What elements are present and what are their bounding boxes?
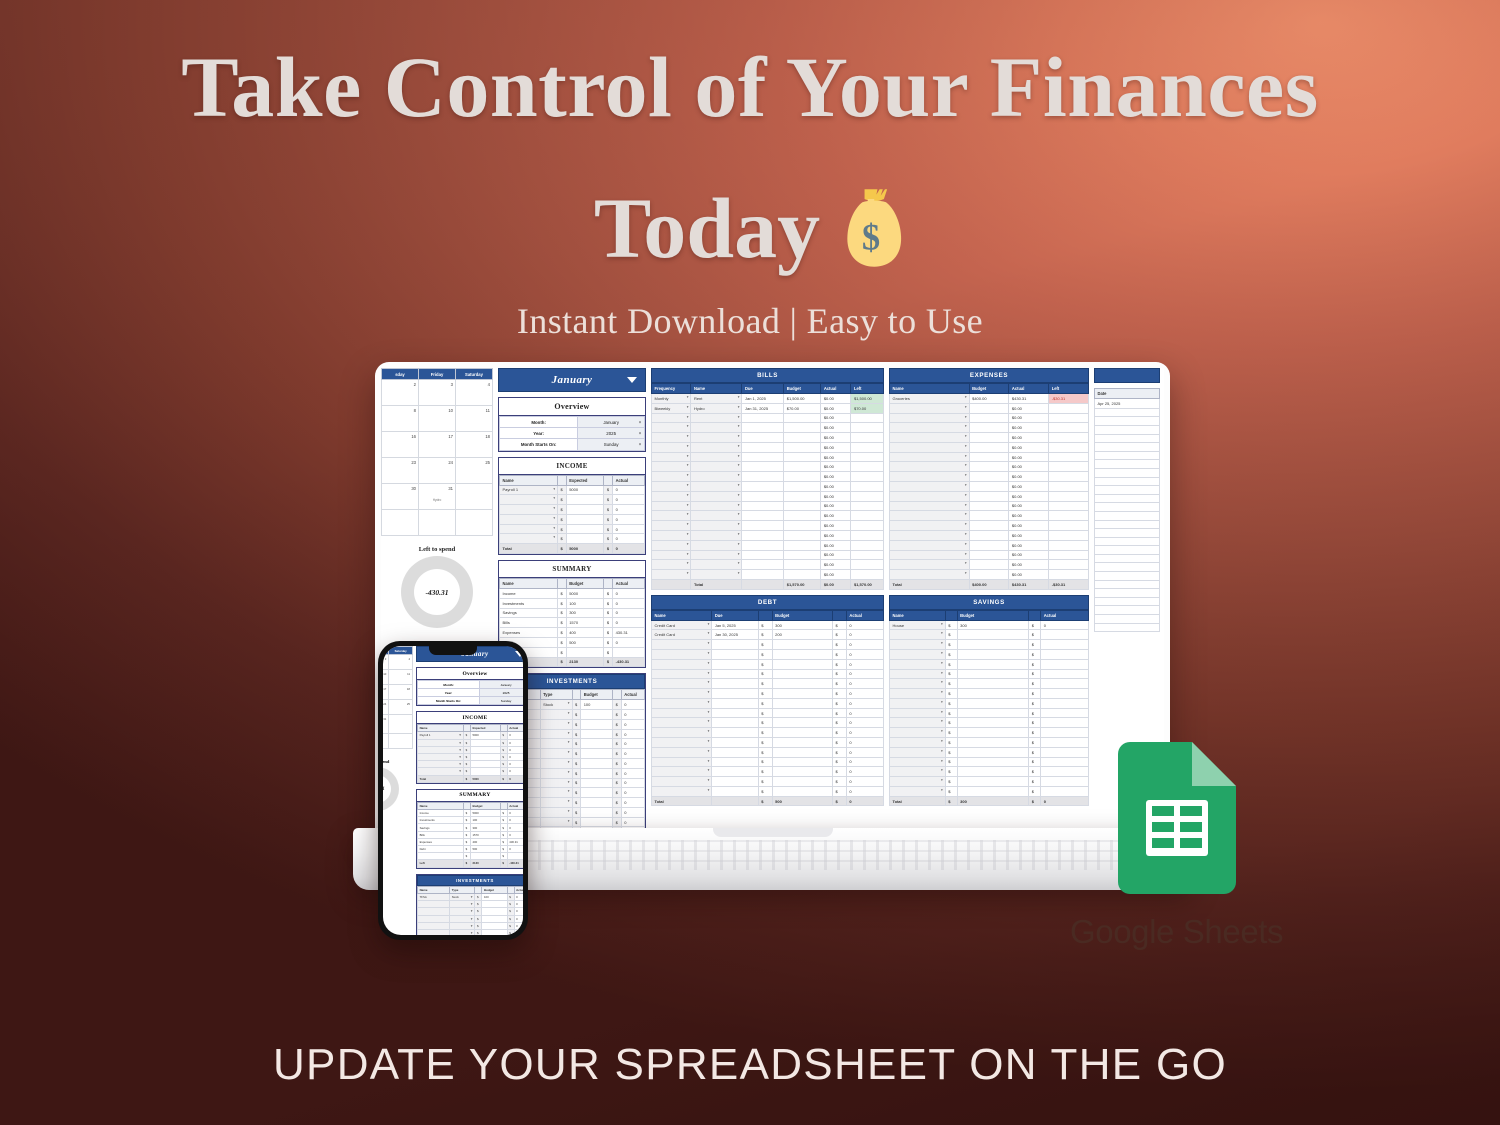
expense-actual: $430.31 <box>1009 394 1049 404</box>
date-value <box>1095 417 1160 426</box>
currency-symbol: $ <box>758 630 772 640</box>
expenses-table[interactable]: NameBudgetActualLeft Groceries$400.00$43… <box>889 383 1089 590</box>
chevron-down-icon[interactable] <box>627 377 637 383</box>
summary-row[interactable]: Expenses$400$430.31 <box>500 628 645 638</box>
savings-row[interactable]: $$ <box>890 747 1089 757</box>
bills-row[interactable]: $0.00 <box>652 540 884 550</box>
bills-row[interactable]: $0.00 <box>652 423 884 433</box>
date-row[interactable] <box>1095 468 1160 477</box>
income-row[interactable]: $$0 <box>418 768 524 775</box>
investments-row[interactable]: $$0 <box>418 901 524 908</box>
phone-calendar-table[interactable]: sdayFridaySaturday 234810111617182324253… <box>383 646 413 749</box>
phone-summary-table[interactable]: NameBudgetActualIncome$5000$0Investments… <box>417 802 523 868</box>
calendar-row[interactable]: 81011 <box>383 670 413 685</box>
expenses-row[interactable]: $0.00 <box>890 570 1089 580</box>
inv-type <box>540 778 572 788</box>
calendar-row[interactable]: 3031Hydro <box>383 715 413 734</box>
income-row[interactable]: Payroll 1$5000$0 <box>500 485 645 495</box>
date-row[interactable] <box>1095 451 1160 460</box>
debt-row[interactable]: $$0 <box>652 708 884 718</box>
savings-row[interactable]: $$ <box>890 718 1089 728</box>
expenses-column: EXPENSES NameBudgetActualLeft Groceries$… <box>889 368 1089 834</box>
inv-budget <box>581 719 613 729</box>
calendar-row[interactable]: 234 <box>382 380 493 406</box>
calendar-cell[interactable]: 30 <box>382 484 419 510</box>
expense-name <box>890 452 970 462</box>
date-row[interactable] <box>1095 615 1160 624</box>
column-header: Budget <box>969 384 1009 394</box>
total-label: Total <box>691 579 742 589</box>
footer-tagline: UPDATE YOUR SPREADSHEET ON THE GO <box>0 1040 1500 1090</box>
date-row[interactable]: Apr 25, 2025 <box>1095 399 1160 409</box>
debt-row[interactable]: $$0 <box>652 679 884 689</box>
income-row[interactable]: $$0 <box>418 761 524 768</box>
debt-row[interactable]: Credit CardJan 5, 2025$300$0 <box>652 620 884 630</box>
savings-row[interactable]: $$ <box>890 708 1089 718</box>
debt-actual: 0 <box>846 747 883 757</box>
calendar-row[interactable]: 3031Hydro <box>382 484 493 510</box>
overview-label: Year: <box>418 689 480 697</box>
bills-row[interactable]: $0.00 <box>652 433 884 443</box>
expense-left <box>1049 482 1089 492</box>
debt-row[interactable]: Credit CardJan 30, 2025$200$0 <box>652 630 884 640</box>
calendar-cell[interactable] <box>389 715 413 734</box>
calendar-row[interactable]: 232425 <box>382 458 493 484</box>
savings-row[interactable]: House$300$0 <box>890 620 1089 630</box>
savings-row[interactable]: $$ <box>890 786 1089 796</box>
calendar-cell[interactable] <box>456 484 493 510</box>
overview-row[interactable]: Month Starts On:Sunday▾ <box>500 439 645 450</box>
calendar-cell[interactable]: 4 <box>456 380 493 406</box>
calendar-row[interactable]: 161718 <box>383 685 413 700</box>
expense-left <box>1049 550 1089 560</box>
summary-row[interactable]: $$ <box>418 853 524 860</box>
bills-row[interactable]: $0.00 <box>652 413 884 423</box>
summary-row[interactable]: Bills$1570$0 <box>418 831 524 838</box>
date-row[interactable] <box>1095 460 1160 469</box>
expenses-row[interactable]: $0.00 <box>890 501 1089 511</box>
bill-actual: $0.00 <box>821 482 851 492</box>
overview-table[interactable]: Month:January▾Year:2025▾Month Starts On:… <box>499 416 645 451</box>
calendar-cell[interactable]: 11 <box>456 406 493 432</box>
bill-actual: $0.00 <box>821 570 851 580</box>
expenses-row[interactable]: $0.00 <box>890 433 1089 443</box>
bill-due <box>742 433 784 443</box>
overview-row[interactable]: Year:2025▾ <box>500 428 645 439</box>
summary-row[interactable]: Expenses$400$430.31 <box>418 838 524 845</box>
summary-row[interactable]: Income$5000$0 <box>500 589 645 599</box>
calendar-cell[interactable]: 2 <box>382 380 419 406</box>
phone-overview-table[interactable]: Month:January▾Year:2025▾Month Starts On:… <box>417 680 523 705</box>
savings-budget <box>957 640 1029 650</box>
date-row[interactable] <box>1095 589 1160 598</box>
date-row[interactable] <box>1095 529 1160 538</box>
overview-row[interactable]: Month:January▾ <box>418 681 524 689</box>
calendar-cell[interactable]: 18 <box>389 685 413 700</box>
currency-symbol: $ <box>1029 669 1041 679</box>
expenses-row[interactable]: Groceries$400.00$430.31-$30.31 <box>890 394 1089 404</box>
summary-budget: 500 <box>566 637 604 647</box>
debt-row[interactable]: $$0 <box>652 738 884 748</box>
expense-budget <box>969 442 1009 452</box>
debt-row[interactable]: $$0 <box>652 757 884 767</box>
chevron-down-icon[interactable] <box>515 651 523 657</box>
bill-name <box>691 530 742 540</box>
calendar-cell[interactable]: 25 <box>389 700 413 715</box>
savings-row[interactable]: $$ <box>890 659 1089 669</box>
investments-row[interactable]: TFSAStock$100$0 <box>418 893 524 900</box>
date-row[interactable] <box>1095 417 1160 426</box>
date-row[interactable] <box>1095 408 1160 417</box>
column-header: Name <box>418 725 464 732</box>
summary-row[interactable]: Investments$100$0 <box>418 817 524 824</box>
debt-row[interactable]: $$0 <box>652 649 884 659</box>
savings-row[interactable]: $$ <box>890 757 1089 767</box>
income-row[interactable]: $$0 <box>500 505 645 515</box>
bills-row[interactable]: BiweeklyHydroJan 31, 2025$70.00$0.00$70.… <box>652 403 884 413</box>
summary-budget: 100 <box>470 817 500 824</box>
date-row[interactable] <box>1095 572 1160 581</box>
expense-left <box>1049 462 1089 472</box>
phone-calendar-column: sdayFridaySaturday 234810111617182324253… <box>383 646 413 935</box>
date-row[interactable] <box>1095 477 1160 486</box>
summary-row[interactable]: Income$5000$0 <box>418 810 524 817</box>
date-row[interactable] <box>1095 597 1160 606</box>
debt-row[interactable]: $$0 <box>652 786 884 796</box>
expenses-row[interactable]: $0.00 <box>890 413 1089 423</box>
savings-name <box>890 767 946 777</box>
calendar-row[interactable]: 161718 <box>382 432 493 458</box>
overview-value[interactable]: January▾ <box>480 681 523 689</box>
calendar-cell[interactable]: 16 <box>382 432 419 458</box>
debt-name: Credit Card <box>652 620 712 630</box>
calendar-cell[interactable]: 4 <box>389 655 413 670</box>
currency-symbol: $ <box>604 485 613 495</box>
debt-row[interactable]: $$0 <box>652 640 884 650</box>
debt-budget <box>772 718 832 728</box>
bill-left <box>851 413 884 423</box>
bills-table[interactable]: FrequencyNameDueBudgetActualLeft Monthly… <box>651 383 884 590</box>
calendar-table[interactable]: sdayFridaySaturday 234810111617182324253… <box>381 368 493 536</box>
summary-budget: 1570 <box>566 618 604 628</box>
currency-symbol: $ <box>558 495 567 505</box>
column-header <box>758 610 772 620</box>
expenses-row[interactable]: $0.00 <box>890 521 1089 531</box>
debt-actual: 0 <box>846 620 883 630</box>
calendar-cell[interactable]: 23 <box>382 458 419 484</box>
expenses-row[interactable]: $0.00 <box>890 442 1089 452</box>
summary-actual: 0 <box>613 589 645 599</box>
savings-row[interactable]: $$ <box>890 679 1089 689</box>
overview-value[interactable]: Sunday▾ <box>480 697 523 705</box>
bills-row[interactable]: $0.00 <box>652 570 884 580</box>
debt-budget <box>772 659 832 669</box>
headline-line-2-row: Today $ <box>0 178 1500 278</box>
debt-row[interactable]: $$0 <box>652 767 884 777</box>
calendar-cell[interactable]: 11 <box>389 670 413 685</box>
overview-value[interactable]: January▾ <box>578 417 645 428</box>
investments-row[interactable]: $$0 <box>418 922 524 929</box>
bill-left <box>851 540 884 550</box>
expenses-row[interactable]: $0.00 <box>890 472 1089 482</box>
bill-budget <box>784 521 821 531</box>
expense-actual: $0.00 <box>1009 511 1049 521</box>
savings-row[interactable]: $$ <box>890 738 1089 748</box>
brand-name-google: Google <box>1070 913 1174 950</box>
investments-row[interactable]: $$0 <box>418 915 524 922</box>
date-row[interactable] <box>1095 494 1160 503</box>
savings-row[interactable]: $$ <box>890 698 1089 708</box>
date-row[interactable] <box>1095 520 1160 529</box>
overview-value[interactable]: 2025▾ <box>578 428 645 439</box>
currency-symbol: $ <box>464 810 471 817</box>
chevron-down-icon: ▾ <box>639 420 641 425</box>
bill-due <box>742 560 784 570</box>
expenses-row[interactable]: $0.00 <box>890 482 1089 492</box>
bill-budget <box>784 570 821 580</box>
expenses-row[interactable]: $0.00 <box>890 423 1089 433</box>
debt-row[interactable]: $$0 <box>652 659 884 669</box>
expense-budget <box>969 530 1009 540</box>
investments-row[interactable]: $$0 <box>418 929 524 935</box>
spreadsheet-mobile[interactable]: sdayFridaySaturday 234810111617182324253… <box>383 646 523 935</box>
date-row[interactable] <box>1095 434 1160 443</box>
currency-symbol: $ <box>1029 738 1041 748</box>
bill-budget <box>784 482 821 492</box>
summary-row[interactable]: Savings$300$0 <box>500 608 645 618</box>
expense-name <box>890 511 970 521</box>
bills-row[interactable]: $0.00 <box>652 511 884 521</box>
bills-row[interactable]: $0.00 <box>652 472 884 482</box>
expense-actual: $0.00 <box>1009 403 1049 413</box>
income-row[interactable]: $$0 <box>418 753 524 760</box>
debt-actual: 0 <box>846 718 883 728</box>
bill-frequency <box>652 452 691 462</box>
bill-actual: $0.00 <box>821 501 851 511</box>
income-row[interactable]: $$0 <box>418 739 524 746</box>
bill-due <box>742 550 784 560</box>
calendar-row[interactable]: 81011 <box>382 406 493 432</box>
debt-row[interactable]: $$0 <box>652 689 884 699</box>
expenses-row[interactable]: $0.00 <box>890 550 1089 560</box>
debt-row[interactable]: $$0 <box>652 747 884 757</box>
calendar-row[interactable]: 232425 <box>383 700 413 715</box>
overview-value[interactable]: 2025▾ <box>480 689 523 697</box>
savings-name <box>890 738 946 748</box>
calendar-cell[interactable]: 3 <box>419 380 456 406</box>
savings-budget <box>957 630 1029 640</box>
currency-symbol: $ <box>832 669 846 679</box>
phone-income-table[interactable]: NameExpectedActualPayroll 1$5000$0$$0$$0… <box>417 724 523 783</box>
debt-row[interactable]: $$0 <box>652 728 884 738</box>
currency-symbol: $ <box>500 746 507 753</box>
income-row[interactable]: $$0 <box>500 514 645 524</box>
bill-left <box>851 423 884 433</box>
bill-left <box>851 442 884 452</box>
bills-row[interactable]: $0.00 <box>652 501 884 511</box>
column-header: Name <box>500 475 558 485</box>
currency-symbol: $ <box>945 630 957 640</box>
bill-name <box>691 550 742 560</box>
expenses-row[interactable]: $0.00 <box>890 560 1089 570</box>
date-row[interactable] <box>1095 554 1160 563</box>
date-row[interactable] <box>1095 443 1160 452</box>
overview-row[interactable]: Month Starts On:Sunday▾ <box>418 697 524 705</box>
inv-name <box>418 908 450 915</box>
date-row[interactable] <box>1095 580 1160 589</box>
summary-actual: 430.31 <box>613 628 645 638</box>
savings-row[interactable]: $$ <box>890 689 1089 699</box>
bill-left <box>851 521 884 531</box>
currency-symbol: $ <box>558 544 567 554</box>
column-header: Name <box>691 384 742 394</box>
inv-type <box>540 710 572 720</box>
income-table[interactable]: NameExpectedActual Payroll 1$5000$0$$0$$… <box>499 475 645 554</box>
income-expected <box>566 514 604 524</box>
date-row[interactable] <box>1095 425 1160 434</box>
overview-value[interactable]: Sunday▾ <box>578 439 645 450</box>
expenses-row[interactable]: $0.00 <box>890 462 1089 472</box>
bills-row[interactable]: $0.00 <box>652 491 884 501</box>
bills-row[interactable]: $0.00 <box>652 482 884 492</box>
overview-label: Year: <box>500 428 578 439</box>
currency-symbol: $ <box>604 628 613 638</box>
bill-name <box>691 501 742 511</box>
column-header: Type <box>540 690 572 700</box>
income-row[interactable]: $$0 <box>418 746 524 753</box>
summary-row[interactable]: Investments$100$0 <box>500 598 645 608</box>
debt-table[interactable]: NameDueBudgetActual Credit CardJan 5, 20… <box>651 610 884 807</box>
calendar-cell[interactable]: 31Hydro <box>419 484 456 510</box>
savings-table[interactable]: NameBudgetActual House$300$0$$$$$$$$$$$$… <box>889 610 1089 807</box>
total-label: Total <box>500 544 558 554</box>
column-header: Name <box>652 610 712 620</box>
calendar-cell[interactable]: 18 <box>456 432 493 458</box>
debt-due <box>712 728 758 738</box>
savings-budget <box>957 718 1029 728</box>
currency-symbol: $ <box>464 860 471 867</box>
savings-row[interactable]: $$ <box>890 777 1089 787</box>
expense-budget <box>969 413 1009 423</box>
savings-row[interactable]: $$ <box>890 640 1089 650</box>
expenses-row[interactable]: $0.00 <box>890 530 1089 540</box>
summary-row[interactable]: Debt$500$0 <box>418 846 524 853</box>
bill-frequency <box>652 530 691 540</box>
income-expected: 5000 <box>470 732 500 739</box>
debt-row[interactable]: $$0 <box>652 777 884 787</box>
summary-actual: 0 <box>507 824 523 831</box>
debt-row[interactable]: $$0 <box>652 718 884 728</box>
currency-symbol: $ <box>945 718 957 728</box>
bills-row[interactable]: $0.00 <box>652 560 884 570</box>
inv-type <box>450 908 475 915</box>
inv-budget <box>581 798 613 808</box>
calendar-cell[interactable]: 24 <box>419 458 456 484</box>
income-row[interactable]: $$0 <box>500 534 645 544</box>
inv-type <box>450 929 475 935</box>
bills-row[interactable]: $0.00 <box>652 462 884 472</box>
column-header: Actual <box>846 610 883 620</box>
date-row[interactable] <box>1095 486 1160 495</box>
date-row[interactable] <box>1095 503 1160 512</box>
debt-due <box>712 698 758 708</box>
savings-row[interactable]: $$ <box>890 767 1089 777</box>
savings-row[interactable]: $$ <box>890 630 1089 640</box>
currency-symbol: $ <box>613 798 622 808</box>
calendar-cell[interactable]: 25 <box>456 458 493 484</box>
phone-investments-table[interactable]: NameTypeBudgetActualTFSAStock$100$0$$0$$… <box>417 886 523 935</box>
savings-row[interactable]: $$ <box>890 728 1089 738</box>
expenses-row[interactable]: $0.00 <box>890 540 1089 550</box>
expenses-row[interactable]: $0.00 <box>890 511 1089 521</box>
bills-row[interactable]: MonthlyRentJan 1, 2025$1,500.00$0.00$1,5… <box>652 394 884 404</box>
income-row[interactable]: $$0 <box>500 495 645 505</box>
debt-budget <box>772 669 832 679</box>
calendar-cell[interactable]: 8 <box>382 406 419 432</box>
expense-actual: $0.00 <box>1009 472 1049 482</box>
summary-row[interactable]: Savings$300$0 <box>418 824 524 831</box>
bills-row[interactable]: $0.00 <box>652 521 884 531</box>
expenses-row[interactable]: $0.00 <box>890 491 1089 501</box>
summary-row[interactable]: Bills$1570$0 <box>500 618 645 628</box>
expenses-row[interactable]: $0.00 <box>890 452 1089 462</box>
bills-row[interactable]: $0.00 <box>652 530 884 540</box>
bill-due <box>742 540 784 550</box>
calendar-cell[interactable]: 17 <box>419 432 456 458</box>
currency-symbol: $ <box>464 753 471 760</box>
debt-row[interactable]: $$0 <box>652 669 884 679</box>
expense-name <box>890 560 970 570</box>
month-selector[interactable]: January <box>498 368 646 392</box>
date-row[interactable] <box>1095 546 1160 555</box>
currency-symbol: $ <box>832 679 846 689</box>
debt-due <box>712 679 758 689</box>
investments-row[interactable]: $$0 <box>418 908 524 915</box>
headline-line-2: Today <box>594 178 820 278</box>
income-row[interactable]: Payroll 1$5000$0 <box>418 732 524 739</box>
inv-actual: 0 <box>621 719 644 729</box>
bills-row[interactable]: $0.00 <box>652 442 884 452</box>
overview-row[interactable]: Year:2025▾ <box>418 689 524 697</box>
date-row[interactable] <box>1095 623 1160 632</box>
savings-row[interactable]: $$ <box>890 649 1089 659</box>
calendar-cell[interactable]: 10 <box>419 406 456 432</box>
calendar-row[interactable]: 234 <box>383 655 413 670</box>
overview-label: Month: <box>500 417 578 428</box>
date-row[interactable] <box>1095 563 1160 572</box>
date-table[interactable]: Date Apr 25, 2025 <box>1094 388 1160 632</box>
bills-row[interactable]: $0.00 <box>652 550 884 560</box>
date-row[interactable] <box>1095 606 1160 615</box>
debt-row[interactable]: $$0 <box>652 698 884 708</box>
overview-row[interactable]: Month:January▾ <box>500 417 645 428</box>
savings-row[interactable]: $$ <box>890 669 1089 679</box>
bill-left: $1,500.00 <box>851 394 884 404</box>
currency-symbol: $ <box>613 710 622 720</box>
bill-name <box>691 491 742 501</box>
bill-due: Jan 31, 2025 <box>742 403 784 413</box>
date-row[interactable] <box>1095 537 1160 546</box>
currency-symbol: $ <box>1029 698 1041 708</box>
currency-symbol: $ <box>464 775 471 782</box>
bills-row[interactable]: $0.00 <box>652 452 884 462</box>
income-row[interactable]: $$0 <box>500 524 645 534</box>
date-row[interactable] <box>1095 511 1160 520</box>
debt-due <box>712 718 758 728</box>
expense-actual: $0.00 <box>1009 540 1049 550</box>
expenses-row[interactable]: $0.00 <box>890 403 1089 413</box>
debt-due <box>712 659 758 669</box>
